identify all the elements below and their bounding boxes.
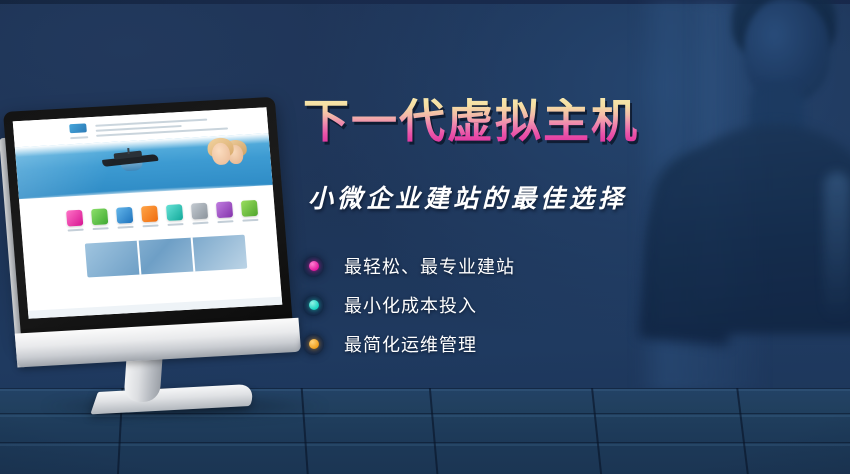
app-icon: [166, 204, 183, 221]
desktop-computer: [8, 100, 298, 400]
monitor-body: [3, 97, 293, 341]
website-preview: [13, 107, 283, 319]
feature-label: 最小化成本投入: [344, 292, 477, 318]
feature-label: 最简化运维管理: [344, 331, 477, 357]
list-item: 最简化运维管理: [304, 326, 515, 362]
feature-label: 最轻松、最专业建站: [344, 253, 515, 279]
app-icon: [191, 203, 208, 220]
page-title: 下一代虚拟主机: [303, 98, 639, 144]
person-shoulder: [646, 124, 850, 334]
page-subtitle: 小微企业建站的最佳选择: [308, 179, 627, 215]
app-icon: [116, 207, 133, 224]
bullet-dot-icon: [304, 296, 323, 315]
website-logo: [69, 123, 87, 133]
feature-list: 最轻松、最专业建站 最小化成本投入 最简化运维管理: [304, 248, 515, 365]
app-icon: [141, 205, 158, 222]
website-content-cards: [85, 235, 248, 278]
app-icon: [241, 200, 258, 217]
monitor-screen: [13, 107, 283, 319]
list-item: 最小化成本投入: [304, 287, 515, 323]
app-icon: [66, 210, 83, 227]
website-hero-ship-image: [101, 147, 159, 172]
app-icon: [216, 201, 233, 218]
promo-banner: 下一代虚拟主机 小微企业建站的最佳选择 最轻松、最专业建站 最小化成本投入 最简…: [0, 0, 850, 474]
person-silhouette: [656, 0, 850, 322]
person-rim-light: [824, 172, 850, 322]
list-item: 最轻松、最专业建站: [304, 248, 515, 284]
app-icon: [91, 208, 108, 225]
bullet-dot-icon: [304, 335, 323, 354]
website-hero-portrait: [205, 136, 250, 172]
bullet-dot-icon: [304, 257, 323, 276]
